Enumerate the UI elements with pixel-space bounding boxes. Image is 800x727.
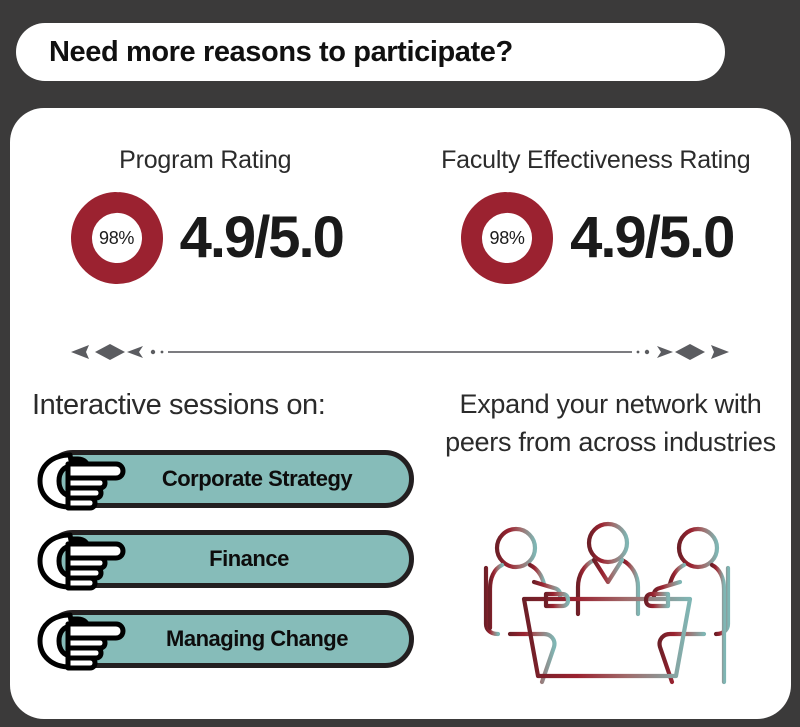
network-description: Expand your network with peers from acro…	[430, 385, 791, 461]
faculty-rating-donut-chart: 98%	[458, 189, 556, 287]
ornamental-divider	[65, 340, 735, 364]
session-label: Corporate Strategy	[106, 466, 352, 492]
rating-caption: Faculty Effectiveness Rating	[441, 146, 750, 175]
session-item-finance[interactable]: Finance	[32, 530, 414, 592]
session-pill[interactable]: Finance	[44, 530, 414, 588]
program-rating-donut-chart: 98%	[68, 189, 166, 287]
sessions-column: Interactive sessions on: Corporate Strat…	[10, 373, 430, 719]
rating-score: 4.9/5.0	[570, 209, 733, 267]
session-item-corporate-strategy[interactable]: Corporate Strategy	[32, 450, 414, 512]
main-card: Program Rating 98% 4.9/5.0 Faculty Effec…	[10, 108, 791, 719]
rating-caption: Program Rating	[119, 146, 291, 175]
page-title: Need more reasons to participate?	[49, 36, 513, 69]
rating-block-faculty: Faculty Effectiveness Rating 98% 4.9/5.0	[401, 108, 792, 323]
header-banner: Need more reasons to participate?	[16, 23, 725, 81]
rating-row: 98% 4.9/5.0	[458, 189, 733, 287]
session-pill[interactable]: Corporate Strategy	[44, 450, 414, 508]
rating-row: 98% 4.9/5.0	[68, 189, 343, 287]
network-column: Expand your network with peers from acro…	[430, 373, 791, 719]
donut-percent-label: 98%	[458, 189, 556, 287]
session-label: Managing Change	[110, 626, 348, 652]
sessions-list: Corporate Strategy	[32, 450, 414, 690]
infographic-root: Need more reasons to participate? Progra…	[0, 0, 800, 727]
people-at-table-illustration	[458, 516, 758, 701]
rating-block-program: Program Rating 98% 4.9/5.0	[10, 108, 401, 323]
session-item-managing-change[interactable]: Managing Change	[32, 610, 414, 672]
lower-section: Interactive sessions on: Corporate Strat…	[10, 373, 791, 719]
donut-percent-label: 98%	[68, 189, 166, 287]
rating-score: 4.9/5.0	[180, 209, 343, 267]
session-label: Finance	[169, 546, 289, 572]
ratings-section: Program Rating 98% 4.9/5.0 Faculty Effec…	[10, 108, 791, 323]
sessions-heading: Interactive sessions on:	[32, 389, 325, 422]
session-pill[interactable]: Managing Change	[44, 610, 414, 668]
